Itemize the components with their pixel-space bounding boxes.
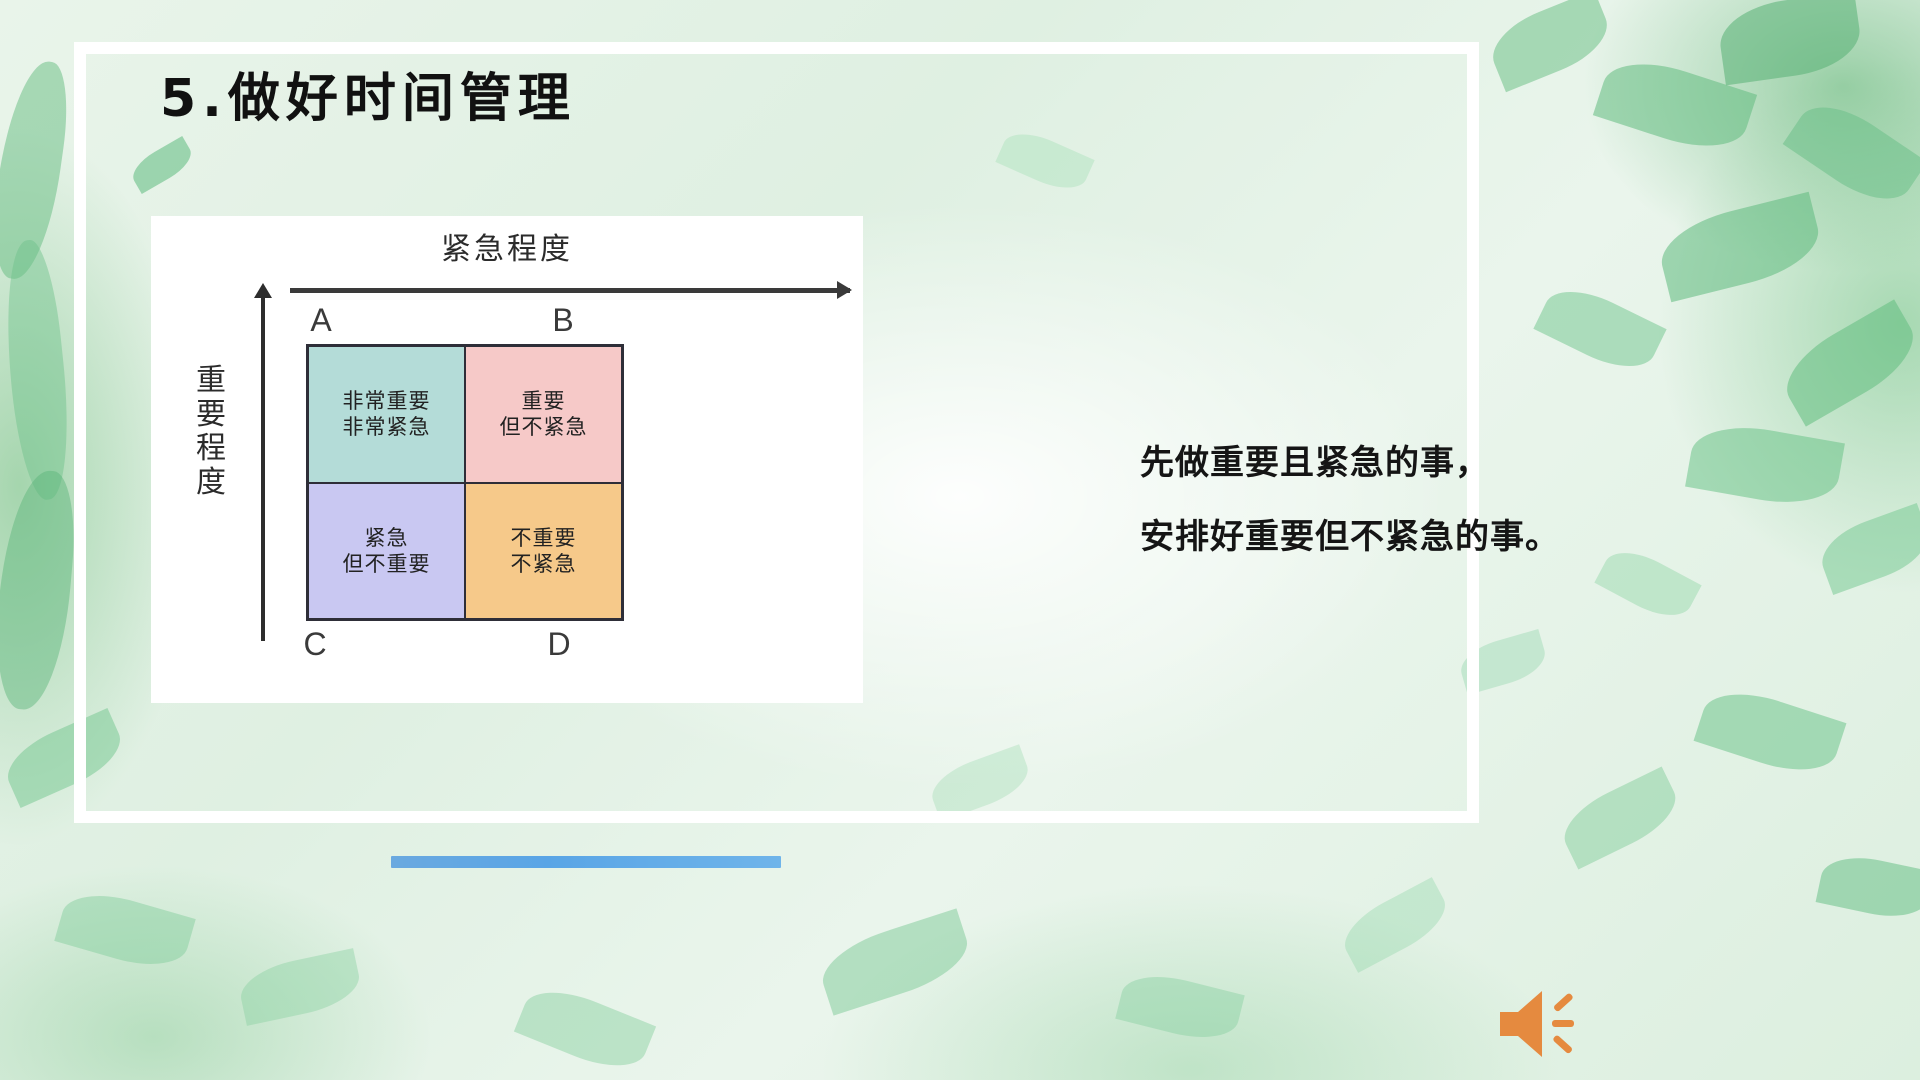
leaf-decor	[1773, 299, 1920, 426]
leaf-decor	[514, 978, 656, 1080]
leaf-decor	[1816, 849, 1920, 925]
speaker-icon[interactable]	[1490, 985, 1590, 1063]
note-text: 先做重要且紧急的事， 安排好重要但不紧急的事。	[1140, 426, 1560, 574]
leaf-decor	[1685, 418, 1845, 513]
leaf-decor	[1715, 0, 1864, 85]
quadrant-a-line2: 非常紧急	[343, 414, 431, 440]
quadrant-b-line1: 重要	[500, 388, 588, 414]
quadrant-b[interactable]: 重要 但不紧急	[465, 346, 622, 483]
column-letter-b: B	[503, 302, 623, 339]
quadrant-c-line1: 紧急	[343, 525, 431, 551]
note-line-2: 安排好重要但不紧急的事。	[1140, 500, 1560, 574]
page-title: 5.做好时间管理	[160, 56, 576, 131]
leaf-decor	[0, 467, 80, 712]
axis-label-urgency: 紧急程度	[151, 224, 863, 268]
horizontal-axis-arrow	[290, 288, 850, 293]
leaf-decor	[1653, 192, 1826, 303]
quadrant-d[interactable]: 不重要 不紧急	[465, 483, 622, 620]
quadrant-d-line2: 不紧急	[511, 551, 577, 577]
quadrant-c-line2: 但不重要	[343, 551, 431, 577]
leaf-decor	[1813, 503, 1920, 595]
matrix-grid: 非常重要 非常紧急 重要 但不紧急 紧急 但不重要 不重要 不紧急	[306, 344, 624, 621]
quadrant-c[interactable]: 紧急 但不重要	[308, 483, 465, 620]
quadrant-d-line1: 不重要	[511, 525, 577, 551]
time-management-matrix: 紧急程度 重要程度 A B 非常重要 非常紧急 重要 但不紧急 紧急 但不重要 …	[151, 216, 863, 703]
leaf-decor	[1483, 0, 1617, 92]
leaf-decor	[1335, 877, 1456, 973]
axis-label-importance: 重要程度	[189, 364, 233, 500]
quadrant-b-line2: 但不紧急	[500, 414, 588, 440]
blue-underline-bar	[391, 856, 781, 868]
column-letter-c: C	[255, 626, 375, 663]
quadrant-a-line1: 非常重要	[343, 388, 431, 414]
leaf-decor	[1115, 966, 1244, 1047]
leaf-decor	[0, 238, 77, 502]
leaf-decor	[1554, 767, 1686, 870]
column-letter-d: D	[499, 626, 619, 663]
vertical-axis-arrow	[261, 296, 265, 641]
leaf-decor	[54, 883, 196, 977]
quadrant-a[interactable]: 非常重要 非常紧急	[308, 346, 465, 483]
leaf-decor	[236, 948, 365, 1026]
leaf-decor	[1694, 680, 1847, 784]
note-line-1: 先做重要且紧急的事，	[1140, 426, 1560, 500]
leaf-decor	[1594, 540, 1701, 627]
leaf-decor	[1533, 277, 1666, 382]
leaf-decor	[814, 908, 976, 1015]
column-letter-a: A	[261, 302, 381, 339]
